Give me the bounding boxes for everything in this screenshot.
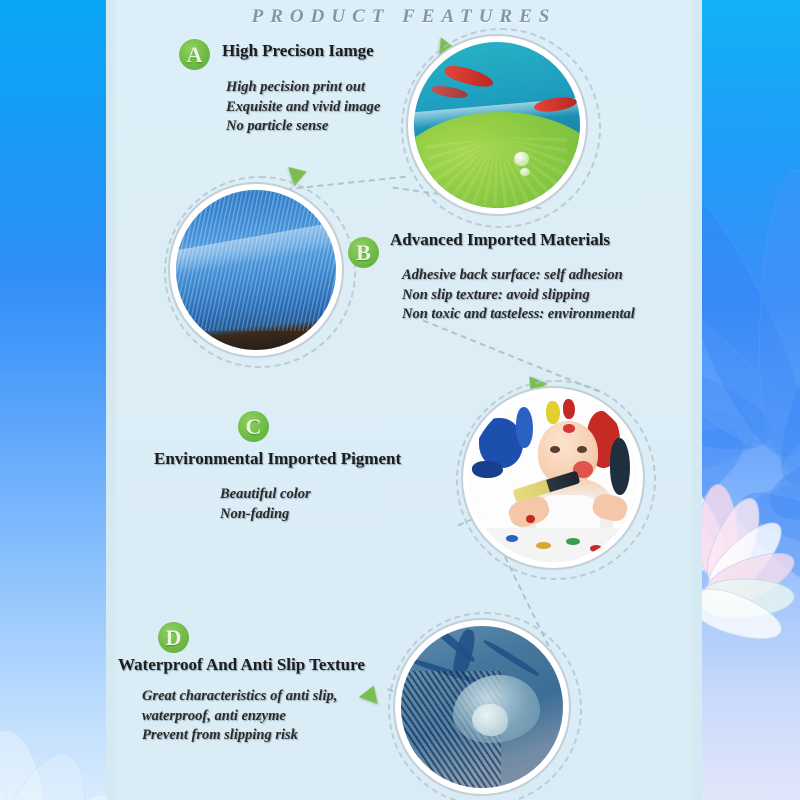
left-decorative-border bbox=[0, 0, 116, 800]
feature-line: No particle sense bbox=[226, 117, 380, 137]
page-title: PRODUCT FEATURES bbox=[116, 6, 692, 28]
koi-fish-over-lily-pad-photo bbox=[414, 42, 580, 208]
feature-badge-d: D bbox=[158, 622, 189, 653]
feature-lines-c: Beautiful color Non-fading bbox=[220, 485, 311, 524]
feature-line: waterproof, anti enzyme bbox=[142, 707, 337, 727]
right-decorative-border bbox=[692, 0, 800, 800]
baby-painting-photo bbox=[469, 394, 637, 562]
content-panel: PRODUCT FEATURES bbox=[116, 0, 692, 800]
feature-heading-c: Environmental Imported Pigment bbox=[154, 449, 401, 469]
green-triangle-arrow-icon bbox=[359, 682, 383, 704]
feature-line: Exquisite and vivid image bbox=[226, 98, 380, 118]
feature-line: Great characteristics of anti slip, bbox=[142, 687, 337, 707]
infographic-canvas: PRODUCT FEATURES bbox=[0, 0, 800, 800]
feature-badge-a: A bbox=[179, 39, 210, 70]
feature-line: Beautiful color bbox=[220, 485, 311, 505]
left-border-inner-edge bbox=[106, 0, 116, 800]
feature-heading-d: Waterproof And Anti Slip Texture bbox=[118, 655, 365, 675]
feature-lines-a: High pecision print out Exquisite and vi… bbox=[226, 78, 380, 137]
feature-heading-a: High Precison Iamge bbox=[222, 41, 374, 61]
blue-ribbed-fabric-photo bbox=[176, 190, 336, 350]
feature-line: Non-fading bbox=[220, 505, 311, 525]
feature-line: Adhesive back surface: self adhesion bbox=[402, 266, 635, 286]
feature-line: Non toxic and tasteless: environmental bbox=[402, 305, 635, 325]
feature-lines-d: Great characteristics of anti slip, wate… bbox=[142, 687, 337, 746]
feature-line: High pecision print out bbox=[226, 78, 380, 98]
feature-heading-b: Advanced Imported Materials bbox=[390, 230, 610, 250]
feature-badge-c: C bbox=[238, 411, 269, 442]
feature-line: Non slip texture: avoid slipping bbox=[402, 286, 635, 306]
feature-line: Prevent from slipping risk bbox=[142, 726, 337, 746]
feature-badge-b: B bbox=[348, 237, 379, 268]
feature-lines-b: Adhesive back surface: self adhesion Non… bbox=[402, 266, 635, 325]
right-border-inner-edge bbox=[692, 0, 702, 800]
water-droplet-texture-photo bbox=[401, 626, 563, 788]
